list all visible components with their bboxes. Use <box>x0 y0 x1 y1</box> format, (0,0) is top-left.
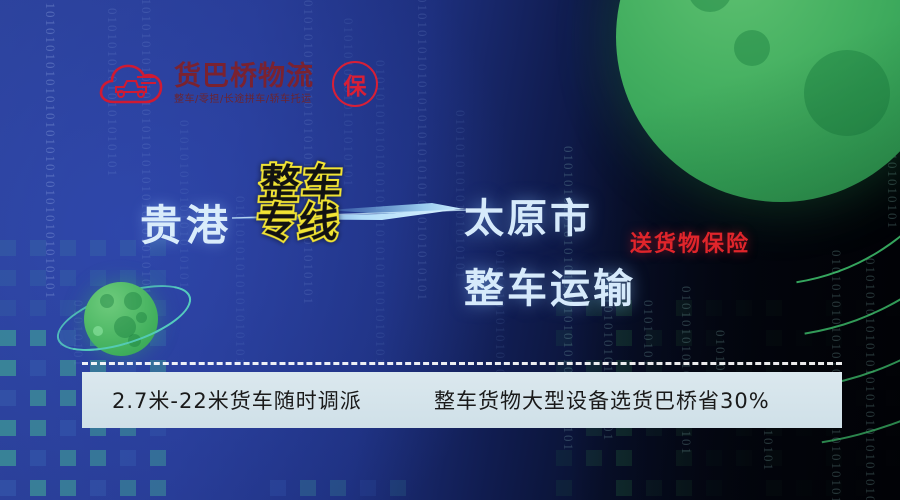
banner-line-1: 整车 <box>258 166 345 204</box>
footer-left-text: 2.7米-22米货车随时调派 <box>112 385 362 415</box>
mosaic-tile <box>0 450 16 466</box>
destination-block: 太原市 整车运输 <box>464 186 636 314</box>
mosaic-tile <box>60 240 76 256</box>
mosaic-tile <box>150 450 166 466</box>
mosaic-tile <box>60 420 76 436</box>
logo-brand-text: 货巴桥物流 <box>174 63 314 90</box>
logo-tagline-text: 整车/零担/长途拼车/轿车托运 <box>174 95 314 105</box>
binary-code-column: 010101010101010101010101010101010101 <box>300 0 316 306</box>
insurance-note-label: 送货物保险 <box>630 226 750 258</box>
mosaic-tile <box>90 270 106 286</box>
mosaic-tile <box>30 390 46 406</box>
mosaic-tile <box>0 300 16 316</box>
mosaic-tile <box>120 450 136 466</box>
cloud-truck-logo-icon <box>96 58 168 110</box>
mosaic-tile <box>120 240 136 256</box>
mosaic-tile <box>150 480 166 496</box>
footer-bar: 2.7米-22米货车随时调派 整车货物大型设备选货巴桥省30% <box>82 372 842 428</box>
poster-canvas: 0101010101010101010101010101010101010101… <box>0 0 900 500</box>
mosaic-tile <box>60 480 76 496</box>
mosaic-tile <box>0 270 16 286</box>
mosaic-tile <box>30 360 46 376</box>
mosaic-tile <box>390 480 406 496</box>
origin-city-label: 贵港 <box>140 192 232 253</box>
binary-code-column: 010101010101010101010101010101010101 <box>42 0 58 300</box>
mosaic-tile <box>330 480 346 496</box>
mosaic-tile <box>30 420 46 436</box>
mosaic-tile <box>90 240 106 256</box>
mosaic-tile <box>0 330 16 346</box>
destination-service-label: 整车运输 <box>464 256 636 314</box>
destination-city-label: 太原市 <box>464 186 636 244</box>
mosaic-tile <box>60 270 76 286</box>
brand-logo: 货巴桥物流 整车/零担/长途拼车/轿车托运 保 <box>96 58 378 110</box>
mosaic-tile <box>120 480 136 496</box>
mosaic-tile <box>30 330 46 346</box>
mosaic-tile <box>60 390 76 406</box>
mosaic-tile <box>30 480 46 496</box>
mosaic-tile <box>0 240 16 256</box>
mosaic-tile <box>270 480 286 496</box>
route-type-banner: 整车 专线 <box>255 166 346 243</box>
mosaic-tile <box>30 300 46 316</box>
mosaic-tile <box>0 360 16 376</box>
insurance-badge: 保 <box>332 61 378 107</box>
banner-line-2: 专线 <box>255 204 342 242</box>
mosaic-tile <box>360 480 376 496</box>
footer-right-text: 整车货物大型设备选货巴桥省30% <box>434 385 770 415</box>
mosaic-tile <box>300 480 316 496</box>
mosaic-tile <box>0 390 16 406</box>
dashed-divider <box>82 362 842 365</box>
mosaic-tile <box>0 480 16 496</box>
mosaic-tile <box>0 420 16 436</box>
mosaic-tile <box>90 480 106 496</box>
mosaic-tile <box>60 450 76 466</box>
mosaic-tile <box>90 450 106 466</box>
mosaic-tile <box>30 450 46 466</box>
